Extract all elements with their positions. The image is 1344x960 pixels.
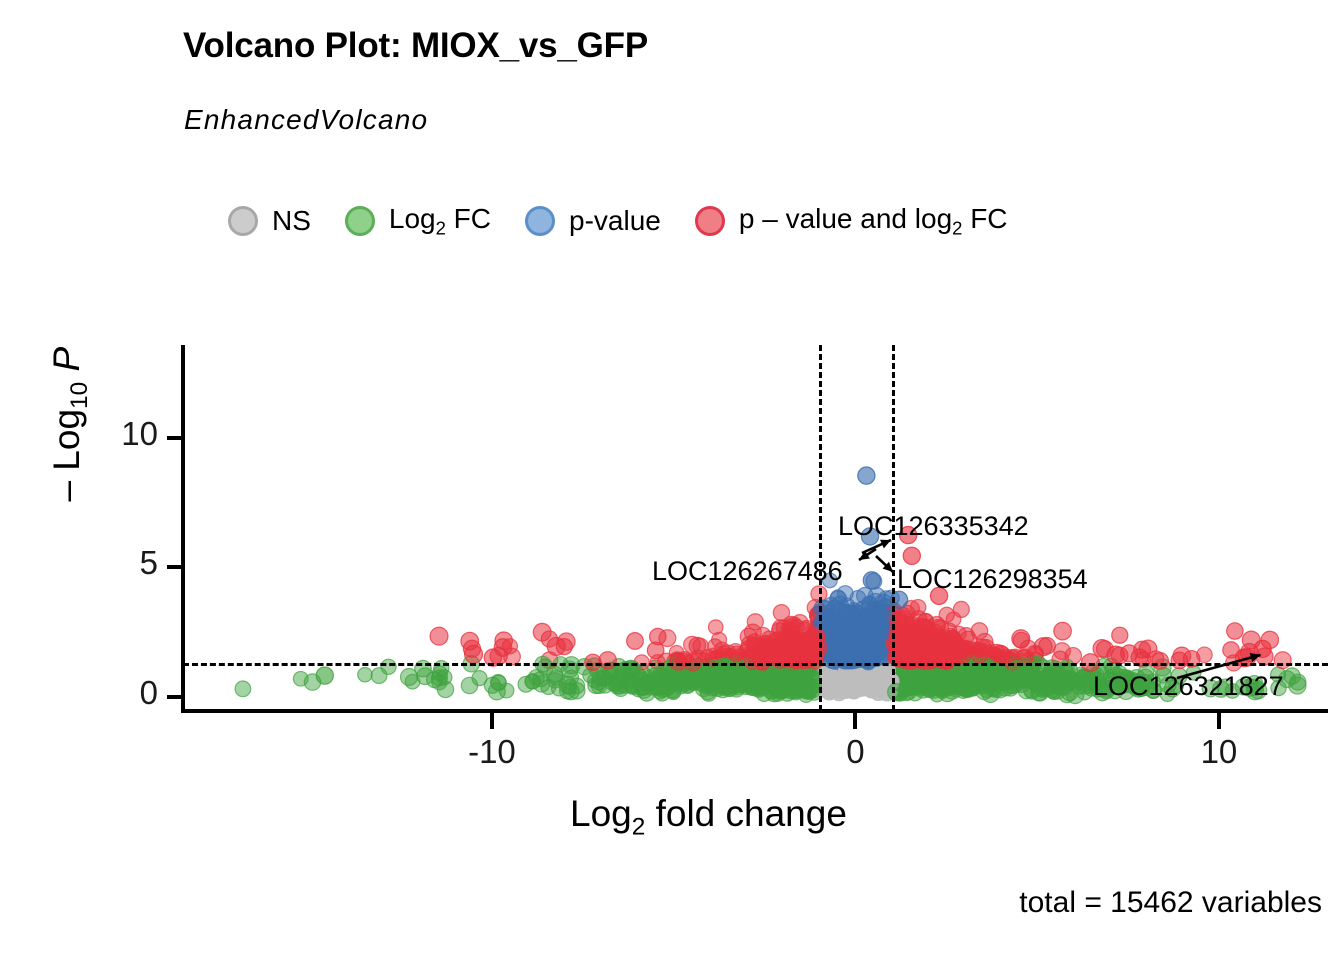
legend-dot-log2fc bbox=[345, 206, 375, 236]
y-tick-label: 0 bbox=[88, 674, 158, 712]
x-axis-title: Log2 fold change bbox=[570, 793, 847, 841]
x-tick bbox=[490, 713, 494, 729]
legend-label-pvalue-and-log2fc: p – value and log2 FC bbox=[739, 203, 1008, 240]
page-title: Volcano Plot: MIOX_vs_GFP bbox=[183, 26, 648, 66]
x-tick-label: 0 bbox=[785, 733, 925, 771]
legend-item-log2fc[interactable]: Log2 FC bbox=[345, 203, 491, 240]
legend: NS Log2 FC p-value p – value and log2 FC bbox=[228, 198, 1008, 244]
volcano-plot-figure: Volcano Plot: MIOX_vs_GFP EnhancedVolcan… bbox=[0, 0, 1344, 960]
y-tick bbox=[167, 565, 183, 569]
y-tick bbox=[167, 436, 183, 440]
x-tick bbox=[853, 713, 857, 729]
pvalue-threshold-line bbox=[183, 663, 1328, 666]
legend-item-pvalue-and-log2fc[interactable]: p – value and log2 FC bbox=[695, 203, 1008, 240]
point-label-loc126335342: LOC126335342 bbox=[838, 511, 1029, 542]
legend-dot-pvalue-and-log2fc bbox=[695, 206, 725, 236]
y-tick bbox=[167, 695, 183, 699]
x-tick-label: 10 bbox=[1149, 733, 1289, 771]
fc-threshold-line-left bbox=[819, 345, 822, 711]
plot-panel bbox=[183, 345, 1328, 711]
total-variables-caption: total = 15462 variables bbox=[1019, 886, 1322, 920]
legend-dot-ns bbox=[228, 206, 258, 236]
legend-label-ns: NS bbox=[272, 205, 311, 237]
point-label-loc126321827: LOC126321827 bbox=[1093, 671, 1284, 702]
legend-item-pvalue[interactable]: p-value bbox=[525, 205, 661, 237]
point-label-loc126298354: LOC126298354 bbox=[897, 564, 1088, 595]
x-tick-label: -10 bbox=[422, 733, 562, 771]
y-axis-title: – Log10 P bbox=[46, 294, 94, 554]
legend-dot-pvalue bbox=[525, 206, 555, 236]
legend-item-ns[interactable]: NS bbox=[228, 205, 311, 237]
x-tick bbox=[1217, 713, 1221, 729]
scatter-points bbox=[183, 345, 1328, 711]
legend-label-pvalue: p-value bbox=[569, 205, 661, 237]
legend-label-log2fc: Log2 FC bbox=[389, 203, 491, 240]
y-tick-label: 5 bbox=[88, 544, 158, 582]
point-label-loc126267486: LOC126267486 bbox=[652, 556, 843, 587]
subtitle: EnhancedVolcano bbox=[184, 104, 428, 136]
y-tick-label: 10 bbox=[88, 415, 158, 453]
